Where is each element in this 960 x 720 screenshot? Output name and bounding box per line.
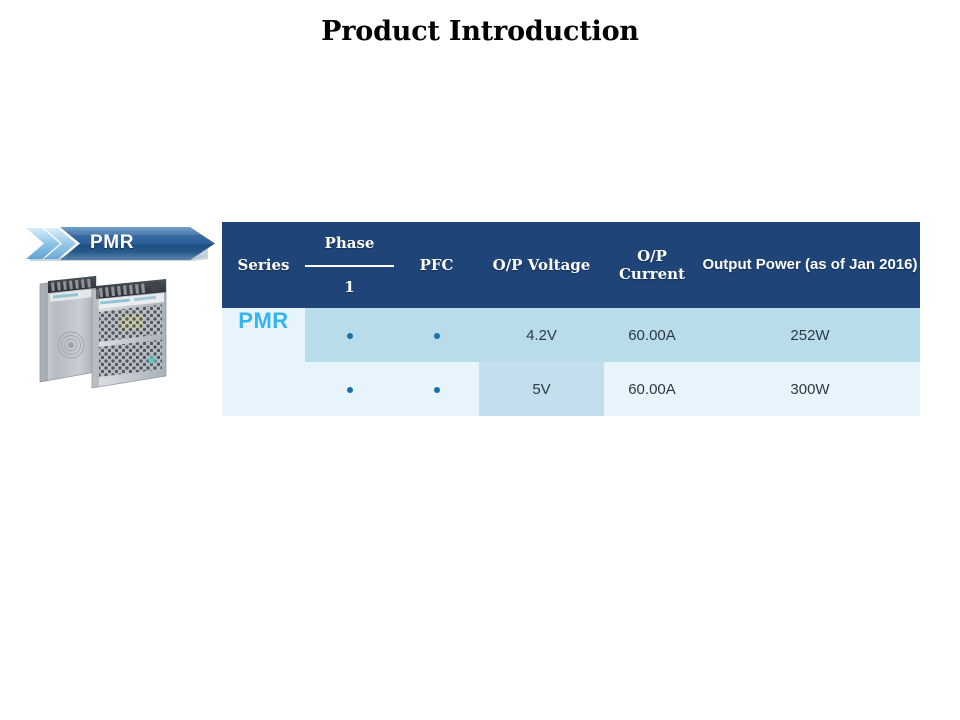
cell-op-voltage: 5V	[479, 362, 604, 416]
column-header-op-voltage: O/P Voltage	[479, 222, 604, 308]
bullet-dot-icon	[347, 387, 353, 393]
cell-op-current: 60.00A	[604, 362, 700, 416]
cell-op-voltage: 4.2V	[479, 308, 604, 362]
cell-op-current: 60.00A	[604, 308, 700, 362]
bullet-dot-icon	[434, 387, 440, 393]
column-header-op-current: O/P Current	[604, 222, 700, 308]
pmr-banner-label: PMR	[90, 226, 134, 260]
page-title: Product Introduction	[0, 16, 960, 47]
cell-output-power: 300W	[700, 362, 920, 416]
pmr-banner: PMR	[24, 226, 222, 262]
column-header-pfc: PFC	[394, 222, 479, 308]
column-header-phase-value: 1	[305, 267, 394, 308]
series-cell-pmr: PMR	[222, 308, 305, 416]
column-header-phase: Phase 1	[305, 222, 394, 308]
cell-output-power: 252W	[700, 308, 920, 362]
power-supply-photo-icon	[34, 268, 184, 400]
column-header-series: Series	[222, 222, 305, 308]
table-row: PMR 4.2V 60.00A 252W	[222, 308, 920, 362]
bullet-dot-icon	[434, 333, 440, 339]
cell-pfc	[394, 362, 479, 416]
product-photo	[34, 268, 184, 400]
bullet-dot-icon	[347, 333, 353, 339]
column-header-phase-label: Phase	[305, 222, 394, 267]
cell-phase	[305, 308, 394, 362]
cell-pfc	[394, 308, 479, 362]
table-row: 5V 60.00A 300W	[222, 362, 920, 416]
table-header-row: Series Phase 1 PFC O/P Voltage O/P Curre…	[222, 222, 920, 308]
column-header-output-power: Output Power (as of Jan 2016)	[700, 222, 920, 308]
specification-table: Series Phase 1 PFC O/P Voltage O/P Curre…	[222, 222, 920, 416]
cell-phase	[305, 362, 394, 416]
